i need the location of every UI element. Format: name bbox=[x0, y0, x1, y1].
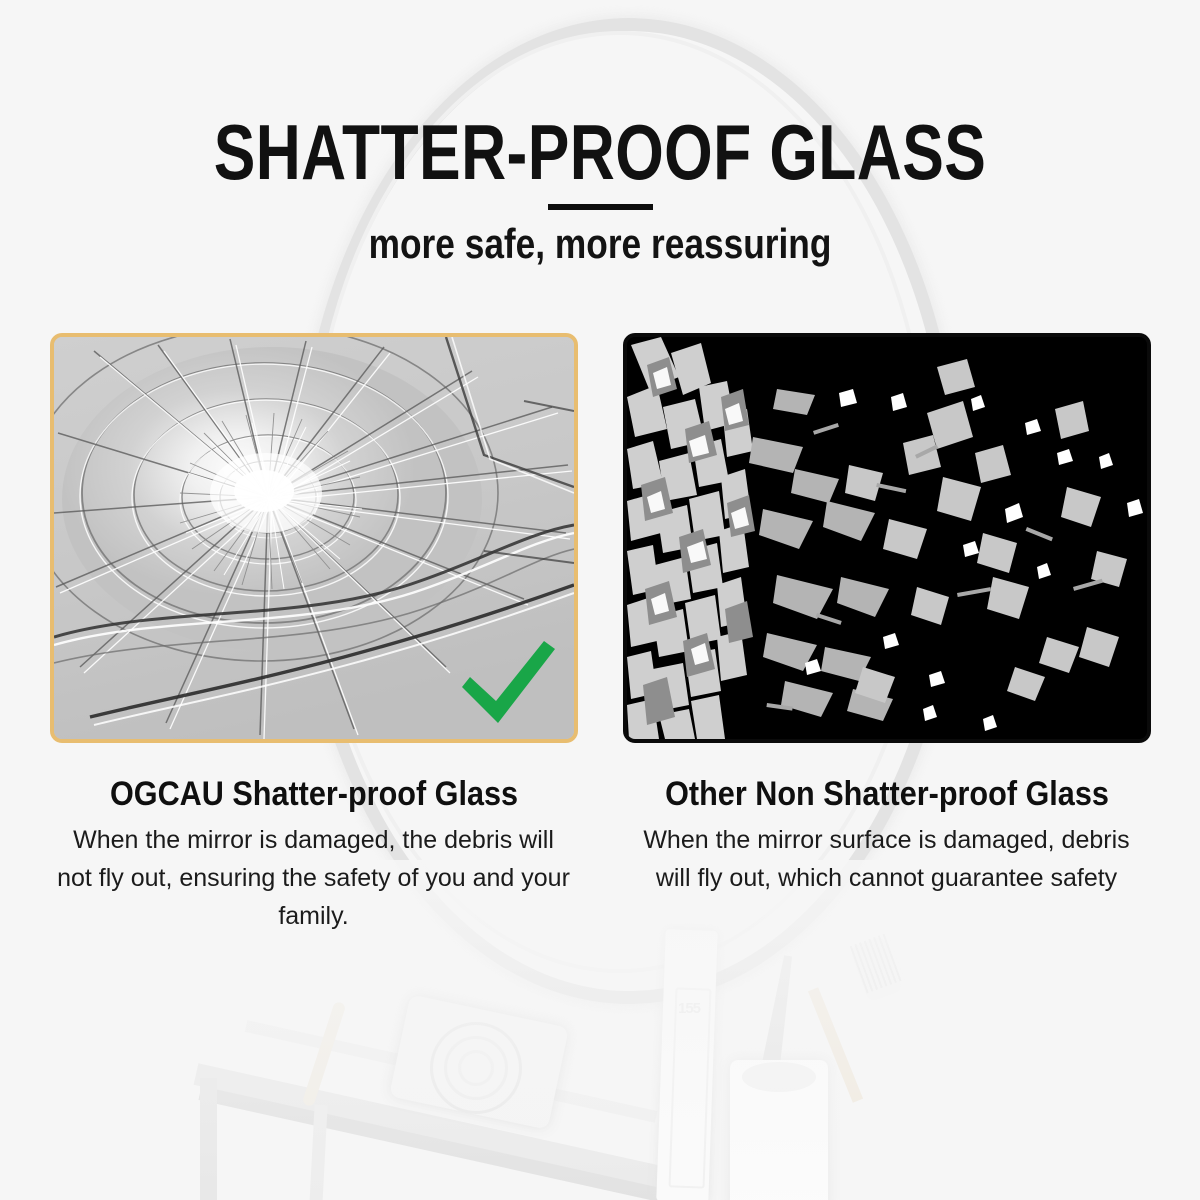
caption-title-non-shatter-proof: Other Non Shatter-proof Glass bbox=[649, 743, 1124, 813]
toothpaste-tube-label bbox=[669, 987, 712, 1188]
towel-spiral-outer bbox=[421, 1013, 530, 1122]
caption-body-non-shatter-proof: When the mirror surface is damaged, debr… bbox=[623, 813, 1151, 897]
towel-strap bbox=[302, 1001, 347, 1107]
comparison-columns: OGCAU Shatter-proof Glass When the mirro… bbox=[0, 333, 1200, 935]
page-subtitle: more safe, more reassuring bbox=[96, 210, 1104, 267]
caption-body-shatter-proof: When the mirror is damaged, the debris w… bbox=[50, 813, 578, 935]
toothbrush-head bbox=[849, 936, 903, 1003]
comparison-column-non-shatter-proof: Other Non Shatter-proof Glass When the m… bbox=[623, 333, 1151, 935]
rolled-towel bbox=[389, 994, 569, 1129]
flying-debris-image bbox=[627, 337, 1147, 739]
shelf-top-edge bbox=[198, 1086, 705, 1200]
header: SHATTER-PROOF GLASS more safe, more reas… bbox=[0, 0, 1200, 267]
check-icon bbox=[456, 637, 560, 729]
comparison-column-shatter-proof: OGCAU Shatter-proof Glass When the mirro… bbox=[50, 333, 578, 935]
shelf-leg-right bbox=[309, 1105, 327, 1200]
toothpaste-tube bbox=[656, 929, 717, 1200]
shelf-back bbox=[245, 1020, 658, 1123]
shelf-top bbox=[194, 1063, 706, 1197]
towel-spiral-inner bbox=[458, 1050, 494, 1086]
toothbrush-wooden-handle bbox=[808, 987, 863, 1102]
non-shatter-proof-image-panel bbox=[623, 333, 1151, 743]
caption-title-shatter-proof: OGCAU Shatter-proof Glass bbox=[76, 743, 551, 813]
toothbrush-grey bbox=[758, 954, 798, 1086]
toothbrush-cup bbox=[730, 1060, 828, 1200]
product-infographic: 155 SHATTER-PROOF GLASS more safe, more … bbox=[0, 0, 1200, 1200]
toothpaste-tube-number: 155 bbox=[678, 1000, 702, 1022]
towel-spiral-mid bbox=[444, 1036, 508, 1100]
shatter-proof-image-panel bbox=[50, 333, 578, 743]
page-title: SHATTER-PROOF GLASS bbox=[120, 0, 1080, 192]
toothbrush-cup-rim bbox=[742, 1062, 816, 1092]
toothbrush-bristles-icon bbox=[850, 933, 905, 994]
shelf-leg-left bbox=[200, 1078, 217, 1200]
